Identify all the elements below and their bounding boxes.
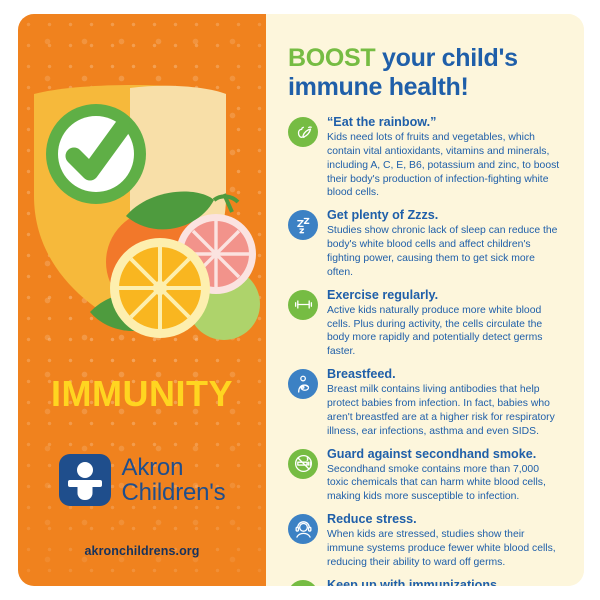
tip-title: “Eat the rainbow.” [327, 115, 560, 130]
immunity-title: IMMUNITY [18, 376, 266, 412]
tip-item: “Eat the rainbow.” Kids need lots of fru… [288, 115, 560, 200]
right-content-panel: BOOST your child's immune health! “Eat t… [266, 14, 584, 586]
tip-body: Get plenty of Zzzs. Studies show chronic… [327, 208, 560, 279]
logo-head-shape [77, 462, 93, 478]
tip-text: Secondhand smoke contains more than 7,00… [327, 463, 560, 504]
tip-title: Exercise regularly. [327, 288, 560, 303]
tip-body: Breastfeed. Breast milk contains living … [327, 367, 560, 438]
tip-title: Breastfeed. [327, 367, 560, 382]
tip-item: Exercise regularly. Active kids naturall… [288, 288, 560, 359]
tip-title: Get plenty of Zzzs. [327, 208, 560, 223]
headline-line2: immune health! [288, 73, 469, 101]
tip-item: Keep up with immunizations. Following th… [288, 578, 560, 586]
tip-body: Exercise regularly. Active kids naturall… [327, 288, 560, 359]
tips-list: “Eat the rainbow.” Kids need lots of fru… [288, 115, 560, 586]
tip-item: Reduce stress. When kids are stressed, s… [288, 512, 560, 570]
tip-text: When kids are stressed, studies show the… [327, 528, 560, 569]
tip-title: Reduce stress. [327, 512, 560, 527]
no-smoking-icon [288, 449, 318, 479]
breastfeeding-icon [288, 369, 318, 399]
headline-rest: your child's [375, 44, 517, 72]
akron-childrens-logo[interactable]: Akron Children's [18, 454, 266, 506]
tip-body: Reduce stress. When kids are stressed, s… [327, 512, 560, 570]
stress-headphones-icon [288, 514, 318, 544]
dumbbell-icon [288, 290, 318, 320]
logo-wordmark-line1: Akron [122, 455, 226, 480]
tip-body: “Eat the rainbow.” Kids need lots of fru… [327, 115, 560, 200]
tip-text: Breast milk contains living antibodies t… [327, 383, 560, 438]
left-brand-panel: IMMUNITY Akron Children's akronchildrens… [18, 14, 266, 586]
sleep-zzz-icon [288, 210, 318, 240]
immunity-shield-artwork [18, 76, 266, 346]
tip-title: Keep up with immunizations. [327, 578, 560, 586]
logo-wordmark: Akron Children's [122, 455, 226, 505]
logo-body-shape [77, 480, 92, 500]
tip-item: Guard against secondhand smoke. Secondha… [288, 447, 560, 505]
tip-text: Active kids naturally produce more white… [327, 304, 560, 359]
logo-wordmark-line2: Children's [122, 480, 226, 505]
infographic-card: IMMUNITY Akron Children's akronchildrens… [18, 14, 584, 586]
headline-highlight: BOOST [288, 44, 375, 72]
akron-childrens-figure-logo [59, 454, 111, 506]
page-title: BOOST your child's immune health! [288, 44, 560, 102]
tip-item: Breastfeed. Breast milk contains living … [288, 367, 560, 438]
fruit-vegetable-icon [288, 117, 318, 147]
syringe-vaccine-icon [288, 580, 318, 586]
tip-body: Keep up with immunizations. Following th… [327, 578, 560, 586]
tip-item: Get plenty of Zzzs. Studies show chronic… [288, 208, 560, 279]
website-url[interactable]: akronchildrens.org [18, 544, 266, 558]
tip-text: Studies show chronic lack of sleep can r… [327, 224, 560, 279]
tip-title: Guard against secondhand smoke. [327, 447, 560, 462]
tip-text: Kids need lots of fruits and vegetables,… [327, 131, 560, 200]
tip-body: Guard against secondhand smoke. Secondha… [327, 447, 560, 505]
